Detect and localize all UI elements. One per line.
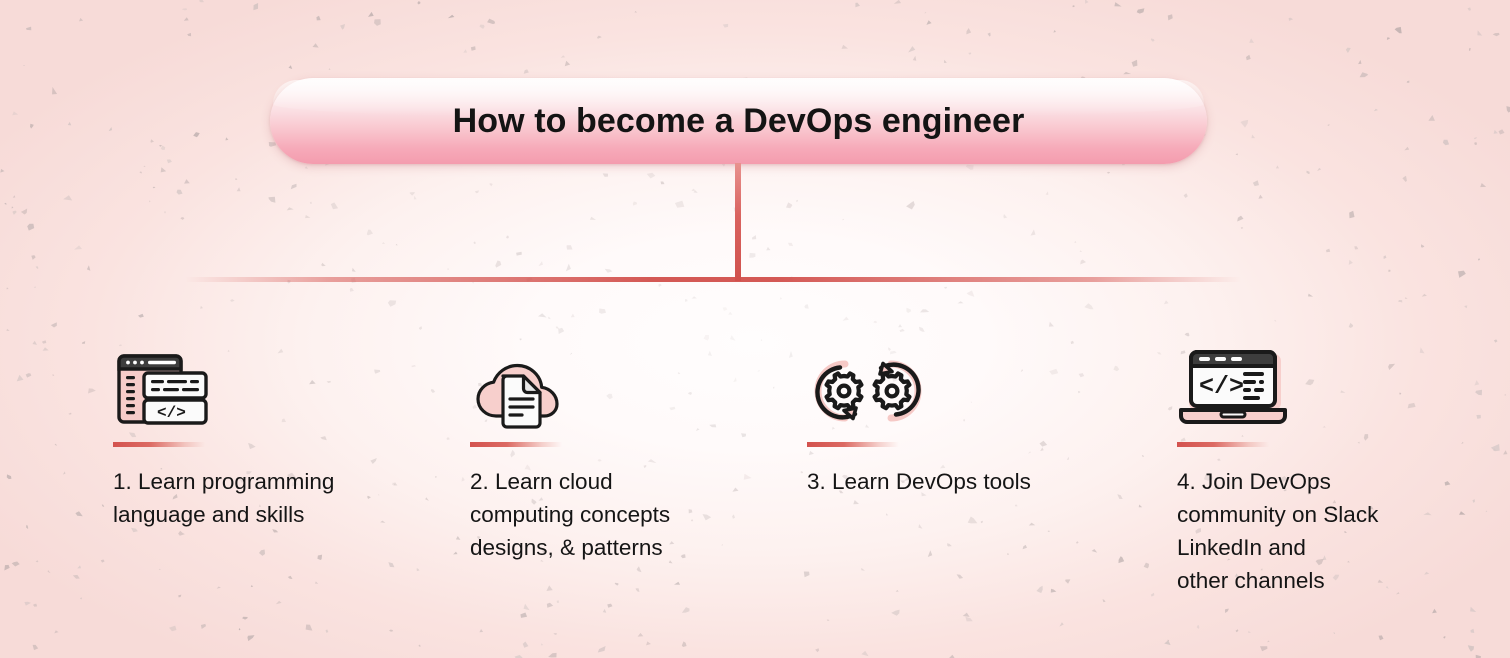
code-window-icon: </> xyxy=(113,342,211,430)
cloud-document-icon xyxy=(470,350,566,430)
svg-text:</>: </> xyxy=(157,404,186,422)
step-4-divider xyxy=(1177,442,1269,447)
laptop-code-icon: </> xyxy=(1177,344,1289,430)
steps-row: </> 1. Learn programming language and sk… xyxy=(0,0,1510,658)
step-item-2: 2. Learn cloud computing concepts design… xyxy=(470,330,770,564)
devops-infinity-gears-icon xyxy=(807,352,929,430)
step-2-icon-wrap xyxy=(470,330,770,430)
step-1-divider xyxy=(113,442,205,447)
step-3-icon-wrap xyxy=(807,330,1117,430)
step-4-caption: 4. Join DevOps community on Slack Linked… xyxy=(1177,465,1477,597)
step-3-divider xyxy=(807,442,899,447)
step-2-divider xyxy=(470,442,562,447)
step-item-4: </> 4. Join DevOps community on Slack Li… xyxy=(1177,330,1477,597)
step-item-1: </> 1. Learn programming language and sk… xyxy=(113,330,443,531)
step-3-caption: 3. Learn DevOps tools xyxy=(807,465,1117,498)
svg-text:</>: </> xyxy=(1199,372,1244,401)
step-item-3: 3. Learn DevOps tools xyxy=(807,330,1117,498)
step-1-icon-wrap: </> xyxy=(113,330,443,430)
step-2-caption: 2. Learn cloud computing concepts design… xyxy=(470,465,770,564)
step-1-caption: 1. Learn programming language and skills xyxy=(113,465,443,531)
page-title: How to become a DevOps engineer xyxy=(453,102,1025,141)
step-4-icon-wrap: </> xyxy=(1177,330,1477,430)
